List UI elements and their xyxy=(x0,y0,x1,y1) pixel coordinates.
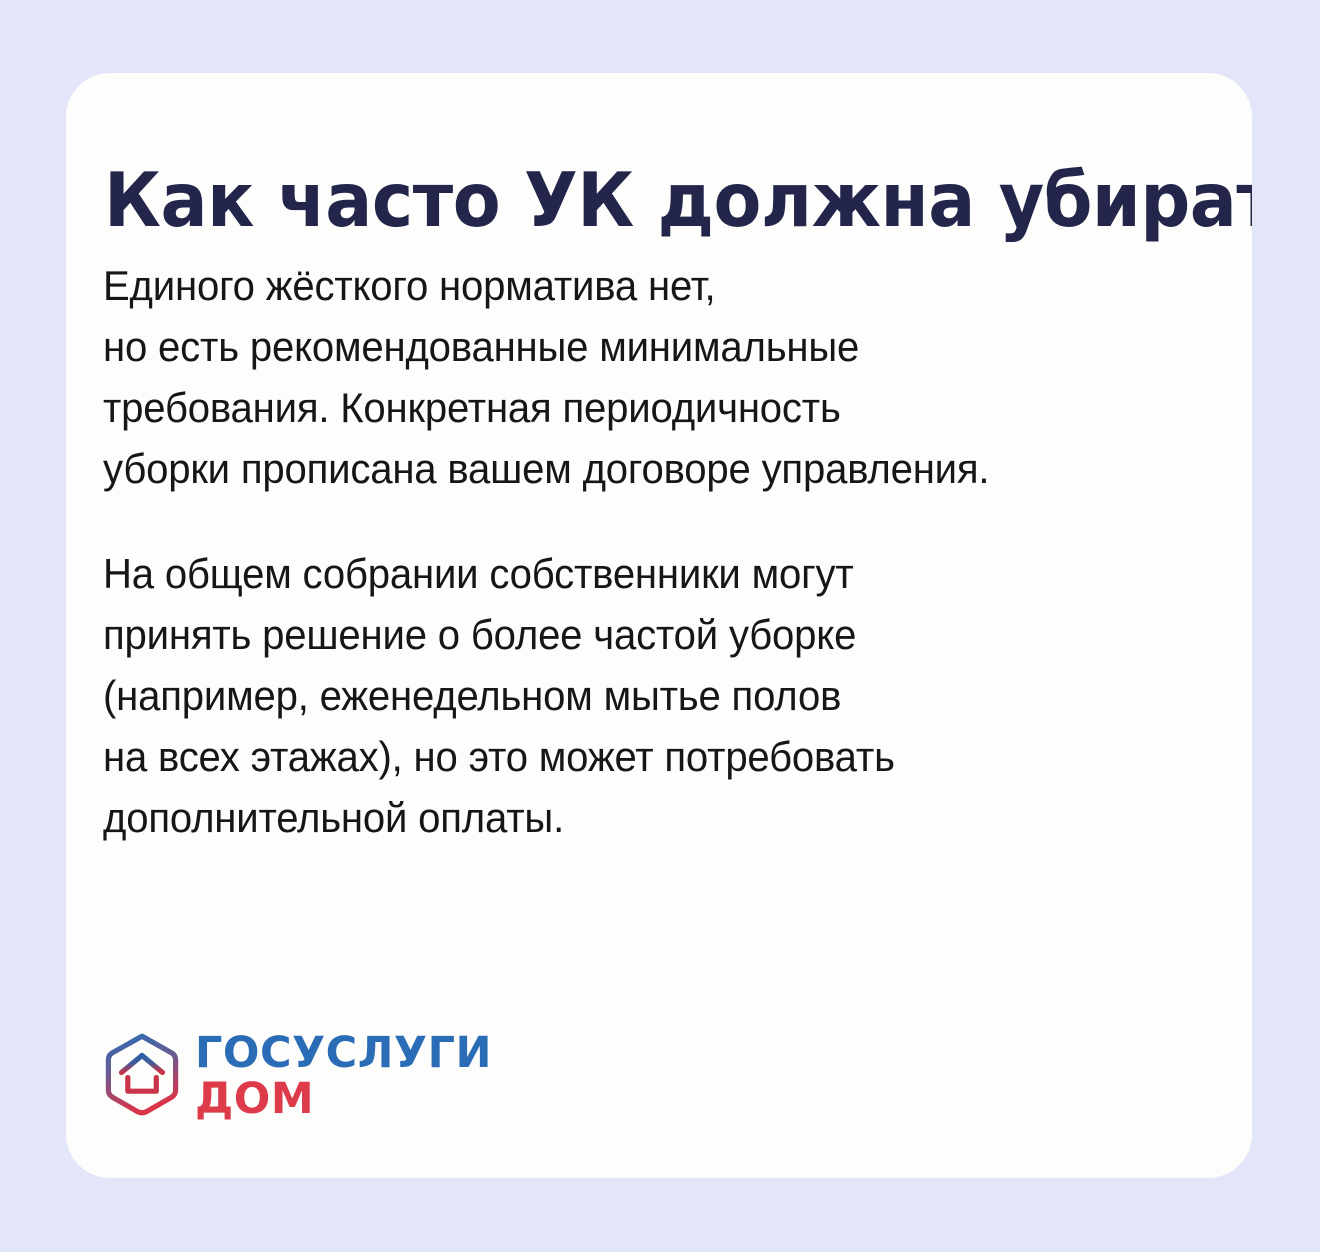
page-root: Как часто УК должна убирать Единого жёст… xyxy=(0,0,1320,1252)
brand-wordmark: Госуслуги Дом xyxy=(195,1028,492,1122)
brand-logo: Госуслуги Дом xyxy=(103,1028,492,1122)
brand-word-dom: Дом xyxy=(195,1076,492,1122)
page-title: Как часто УК должна убирать xyxy=(104,161,1136,241)
brand-word-gosuslugi: Госуслуги xyxy=(195,1030,492,1076)
body-paragraph-2: На общем собрании собственники могут при… xyxy=(103,543,1115,848)
card-body: Единого жёсткого норматива нет, но есть … xyxy=(103,255,1163,848)
body-paragraph-1: Единого жёсткого норматива нет, но есть … xyxy=(103,255,1115,499)
house-hexagon-icon xyxy=(103,1032,181,1118)
house-hexagon-icon-svg xyxy=(103,1032,181,1118)
info-card: Как часто УК должна убирать Единого жёст… xyxy=(66,73,1252,1178)
